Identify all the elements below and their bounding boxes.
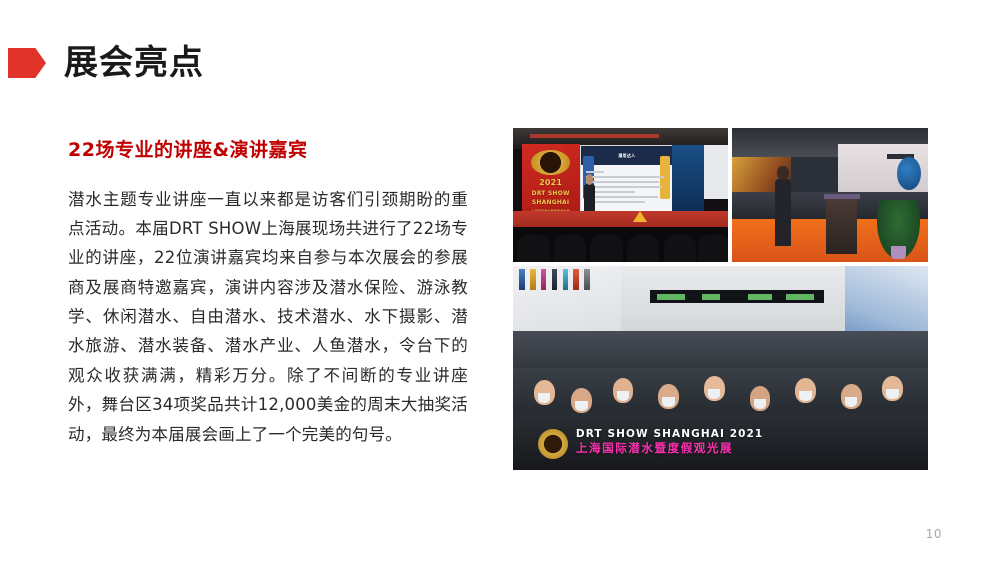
attendee-head [534, 380, 555, 404]
face-mask [886, 389, 898, 399]
booth-banner-5 [563, 269, 568, 290]
section-subtitle: 22场专业的讲座&演讲嘉宾 [68, 138, 478, 163]
photo-collage: 2021 DRT SHOW SHANGHAI 上海国际潜水暨度假观光展 潜用达人 [513, 128, 928, 470]
booth-banner-4 [552, 269, 557, 290]
foreground-audience-silhouette [513, 227, 728, 262]
booth-banner-7 [584, 269, 589, 290]
face-mask [617, 391, 629, 401]
photo-audience-crowd: DRT SHOW SHANGHAI 2021 上海国际潜水暨度假观光展 [513, 266, 928, 470]
booth-panel-white [704, 145, 728, 199]
collage-top-row: 2021 DRT SHOW SHANGHAI 上海国际潜水暨度假观光展 潜用达人 [513, 128, 928, 262]
attendee-head [658, 384, 679, 408]
body-paragraph: 潜水主题专业讲座一直以来都是访客们引颈期盼的重点活动。本届DRT SHOW上海展… [68, 185, 468, 449]
arrow-marker-icon [8, 48, 46, 78]
face-mask [845, 397, 857, 407]
screen-title: 潜用达人 [618, 153, 635, 159]
booth-banner-2 [530, 269, 535, 290]
screen-text-lines [586, 171, 667, 214]
photo-watermark: DRT SHOW SHANGHAI 2021 上海国际潜水暨度假观光展 [538, 428, 795, 456]
backdrop-brand-line2: SHANGHAI [522, 200, 580, 206]
watermark-seal-icon [538, 429, 568, 459]
page-number: 10 [926, 527, 942, 541]
lectern-podium [826, 198, 857, 254]
award-medallion-icon [531, 150, 570, 175]
overhead-led-sign [650, 290, 824, 302]
photo-stage-lecture: 2021 DRT SHOW SHANGHAI 上海国际潜水暨度假观光展 潜用达人 [513, 128, 728, 262]
booth-banner-6 [573, 269, 578, 290]
backdrop-year: 2021 [522, 179, 580, 187]
attendee-head [795, 378, 816, 402]
face-mask [754, 399, 766, 409]
attendee-head [571, 388, 592, 412]
booth-banner-3 [541, 269, 546, 290]
decorative-plant [877, 200, 920, 259]
podium-top-surface [824, 194, 860, 200]
booth-banner-1 [519, 269, 524, 290]
watermark-english: DRT SHOW SHANGHAI 2021 [576, 428, 795, 442]
attendee-head [882, 376, 903, 400]
text-column: 22场专业的讲座&演讲嘉宾 潜水主题专业讲座一直以来都是访客们引颈期盼的重点活动… [68, 138, 478, 449]
photo-podium-speaker [732, 128, 928, 262]
slide-header: 展会亮点 [0, 38, 520, 88]
attendee-head [613, 378, 634, 402]
attendee-head [750, 386, 771, 410]
standing-speaker [775, 179, 791, 246]
booth-circle-graphic-icon [897, 157, 920, 190]
face-mask [662, 397, 674, 407]
face-mask [538, 393, 550, 403]
face-mask [575, 401, 587, 411]
face-mask [799, 391, 811, 401]
plant-pot [891, 246, 907, 259]
attendee-head [841, 384, 862, 408]
attendee-head [704, 376, 725, 400]
backdrop-brand-line1: DRT SHOW [522, 191, 580, 197]
booth-panel-blue [672, 145, 704, 216]
stage-triangle-marker-icon [633, 211, 647, 222]
watermark-chinese: 上海国际潜水暨度假观光展 [576, 441, 795, 455]
page-title: 展会亮点 [64, 46, 204, 80]
face-mask [708, 389, 720, 399]
